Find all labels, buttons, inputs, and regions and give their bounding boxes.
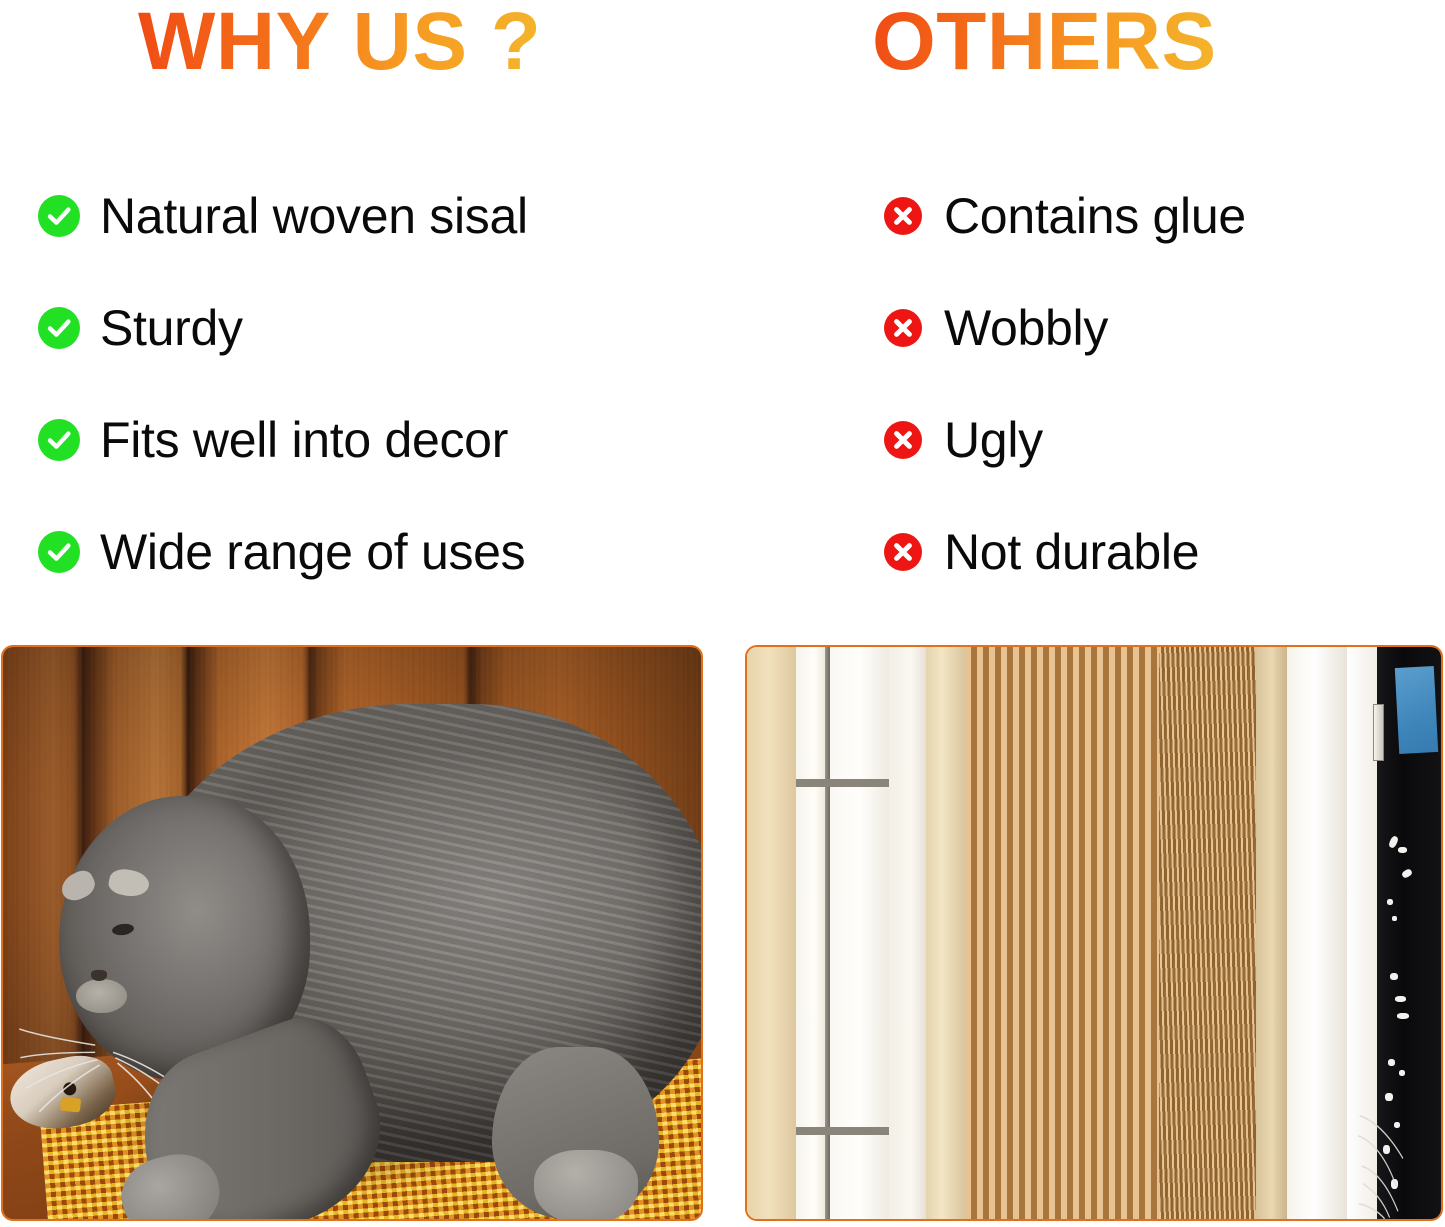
list-item-label: Not durable	[944, 526, 1199, 579]
page-title-why-us: WHY US ?	[138, 1, 541, 83]
list-item-label: Sturdy	[100, 302, 243, 355]
pros-list: Natural woven sisal Sturdy Fits well int…	[38, 160, 718, 608]
cross-circle-icon	[884, 309, 922, 347]
list-item-label: Fits well into decor	[100, 414, 508, 467]
cat-eye	[111, 923, 134, 937]
list-item-label: Natural woven sisal	[100, 190, 528, 243]
list-item-label: Wobbly	[944, 302, 1108, 355]
debris-speck	[1388, 1059, 1395, 1066]
sisal-weave-surface	[965, 647, 1159, 1219]
debris-speck	[1399, 1070, 1405, 1076]
cross-circle-icon	[884, 197, 922, 235]
list-item-label: Wide range of uses	[100, 526, 525, 579]
list-item: Ugly	[884, 384, 1424, 496]
list-item: Natural woven sisal	[38, 160, 718, 272]
list-item: Fits well into decor	[38, 384, 718, 496]
list-item: Wobbly	[884, 272, 1424, 384]
photo-cat-on-sisal-scratcher	[1, 645, 703, 1221]
debris-speck	[1397, 1013, 1409, 1019]
post-wood-edge-right	[1256, 647, 1287, 1219]
cat-hind-paw	[534, 1150, 639, 1219]
toy-beak	[60, 1096, 81, 1112]
cat-ear-right	[107, 866, 152, 900]
list-item-label: Contains glue	[944, 190, 1246, 243]
door-panel-3	[889, 647, 926, 1219]
debris-speck	[1398, 847, 1407, 853]
cons-column: Contains glue Wobbly Ugly	[884, 160, 1424, 608]
post-wood-edge-left	[926, 647, 965, 1219]
sisal-frayed-area	[1159, 647, 1256, 1219]
debris-speck	[1392, 916, 1397, 921]
blue-tape	[1394, 666, 1437, 754]
check-circle-icon	[38, 307, 80, 349]
comparison-infographic: WHY US ? OTHERS Natural woven sisal Stur	[0, 0, 1445, 1227]
cat-muzzle	[76, 979, 126, 1013]
list-item: Wide range of uses	[38, 496, 718, 608]
door-frame-white	[1287, 647, 1347, 1219]
pros-column: Natural woven sisal Sturdy Fits well int…	[38, 160, 718, 608]
debris-speck	[1390, 973, 1398, 980]
door-crossbar-bottom	[796, 1127, 889, 1135]
list-item: Sturdy	[38, 272, 718, 384]
check-circle-icon	[38, 195, 80, 237]
debris-speck	[1387, 899, 1393, 905]
wall-wood-strip-left	[747, 647, 796, 1219]
check-circle-icon	[38, 531, 80, 573]
photo-ours-content	[3, 647, 701, 1219]
list-item: Contains glue	[884, 160, 1424, 272]
door-latch	[1373, 704, 1384, 761]
toy-eye	[62, 1081, 77, 1096]
list-item-label: Ugly	[944, 414, 1043, 467]
page-title-others: OTHERS	[872, 1, 1217, 83]
cross-circle-icon	[884, 533, 922, 571]
cons-list: Contains glue Wobbly Ugly	[884, 160, 1424, 608]
list-item: Not durable	[884, 496, 1424, 608]
photo-theirs-content	[747, 647, 1441, 1219]
photo-worn-sisal-post	[745, 645, 1443, 1221]
cross-circle-icon	[884, 421, 922, 459]
door-crossbar-top	[796, 779, 889, 787]
check-circle-icon	[38, 419, 80, 461]
loose-sisal-fibers	[1358, 1093, 1441, 1219]
debris-speck	[1395, 996, 1406, 1002]
